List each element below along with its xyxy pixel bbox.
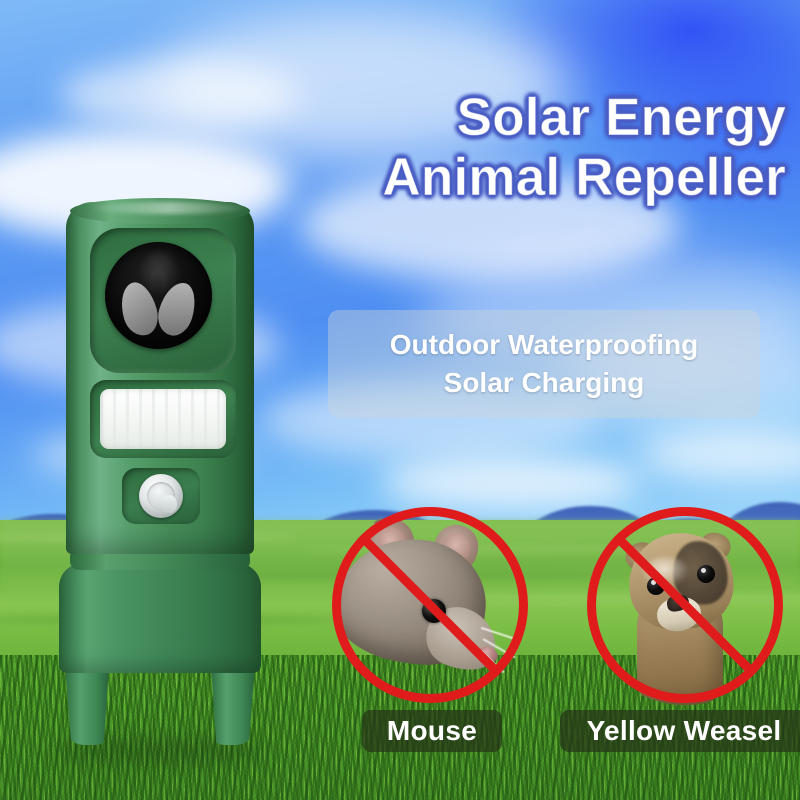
led-flash-panel (100, 389, 226, 449)
power-button[interactable] (139, 474, 183, 518)
animal-label-weasel: Yellow Weasel (560, 710, 800, 752)
led-panel-housing (90, 380, 236, 458)
product-device (60, 198, 260, 750)
repelled-animal-weasel (585, 505, 785, 705)
title-line-1: Solar Energy (186, 88, 786, 148)
ultrasonic-speaker-dome-icon (105, 242, 212, 349)
feature-line-2: Solar Charging (444, 366, 645, 400)
prohibition-sign-weasel-icon (585, 505, 785, 705)
device-base (59, 563, 261, 673)
feature-callout-box: Outdoor Waterproofing Solar Charging (328, 310, 760, 418)
prohibition-sign-mouse-icon (330, 505, 530, 705)
animal-label-weasel-text: Yellow Weasel (587, 715, 782, 747)
feature-line-1: Outdoor Waterproofing (390, 328, 698, 362)
device-top-cap (70, 198, 250, 224)
product-advertisement-banner: Solar Energy Animal Repeller Outdoor Wat… (0, 0, 800, 800)
animal-label-mouse-text: Mouse (387, 715, 477, 747)
animal-label-mouse: Mouse (362, 710, 502, 752)
repelled-animal-mouse (330, 505, 530, 705)
top-highlight (92, 202, 248, 214)
title-line-2: Animal Repeller (186, 148, 786, 208)
page-title: Solar Energy Animal Repeller (186, 88, 786, 209)
power-button-housing (122, 468, 200, 524)
